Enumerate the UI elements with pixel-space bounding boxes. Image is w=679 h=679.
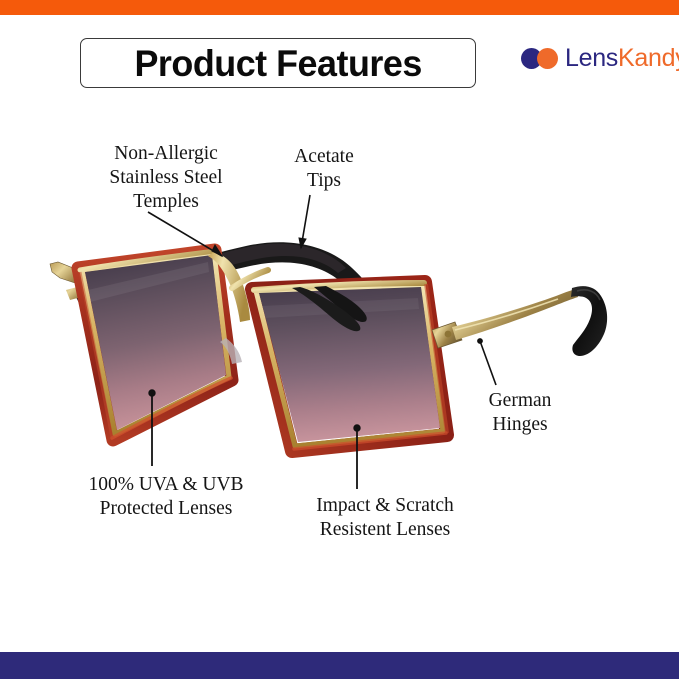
annotation-german-hinges: German Hinges [450,389,590,437]
annotation-non-allergic-stainless-steel-temples: Non-Allergic Stainless Steel Temples [66,142,266,213]
right-temple-arm [432,286,607,356]
product-illustration [0,0,679,679]
leader-line-hinges [478,339,496,385]
left-lens-assembly [78,250,232,440]
product-feature-infographic: Product Features LensKandy [0,0,679,679]
annotation-acetate-tips: Acetate Tips [259,145,389,193]
annotation-impact-scratch-resistent-lenses: Impact & Scratch Resistent Lenses [281,494,489,542]
leader-line-acetate [299,195,310,248]
annotation-uva-uvb-protected-lenses: 100% UVA & UVB Protected Lenses [62,473,270,521]
